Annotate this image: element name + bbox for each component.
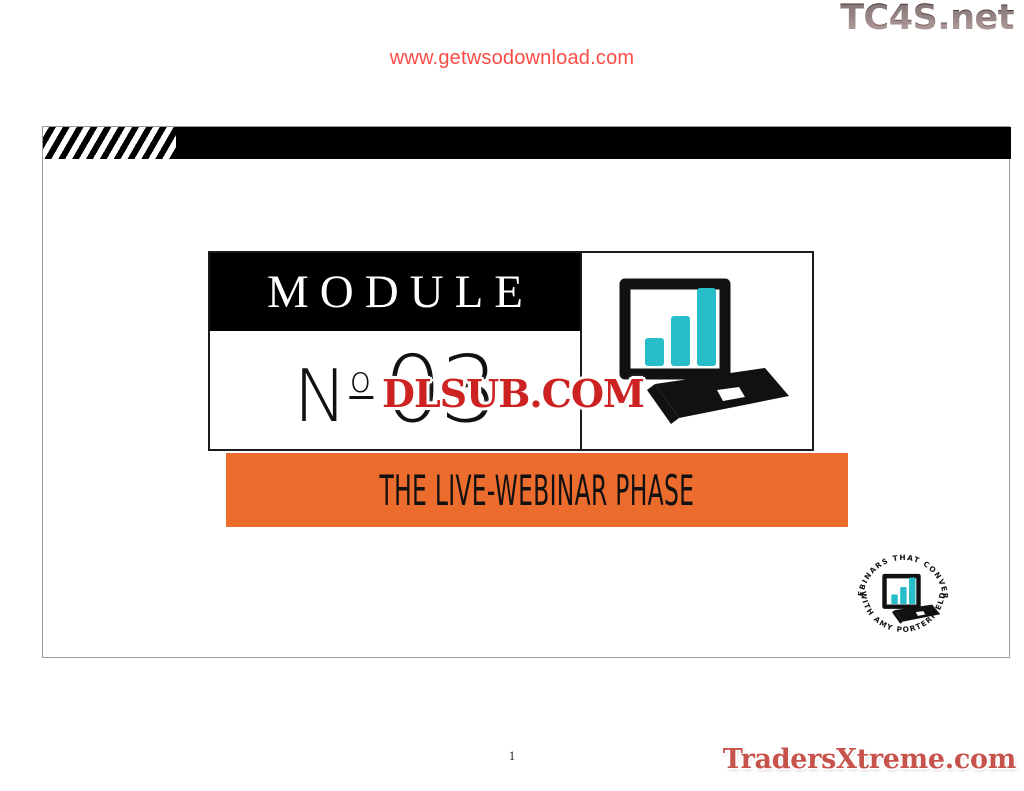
getwsodownload-url-watermark: www.getwsodownload.com: [0, 47, 1024, 70]
diagonal-stripes-decoration-icon: [43, 127, 176, 159]
badge-arc-top-text: WEBINARS THAT CONVERT: [849, 538, 950, 600]
module-card-right-column: [582, 253, 812, 449]
phase-banner: THE LIVE-WEBINAR PHASE: [226, 453, 848, 527]
phase-title: THE LIVE-WEBINAR PHASE: [380, 466, 695, 515]
module-card: MODULE No03: [208, 251, 814, 451]
webinars-that-convert-badge-icon: WEBINARS THAT CONVERT WITH AMY PORTERFIE…: [849, 538, 957, 643]
module-label: MODULE: [256, 269, 534, 316]
module-card-left-column: MODULE No03: [210, 253, 582, 449]
tc4s-watermark-logo: TC4S.net: [840, 0, 1014, 38]
dlsub-watermark-text: DLSUB.COM: [382, 371, 644, 416]
slide-top-black-bar: [43, 127, 1011, 159]
presentation-slide: MODULE No03: [42, 126, 1010, 658]
module-number-prefix: N: [294, 354, 350, 438]
tradersxtreme-watermark-logo: TradersXtreme.com: [723, 744, 1016, 775]
module-header-band: MODULE: [210, 253, 580, 331]
dlsub-watermark: DLSUB.COM: [368, 371, 658, 416]
